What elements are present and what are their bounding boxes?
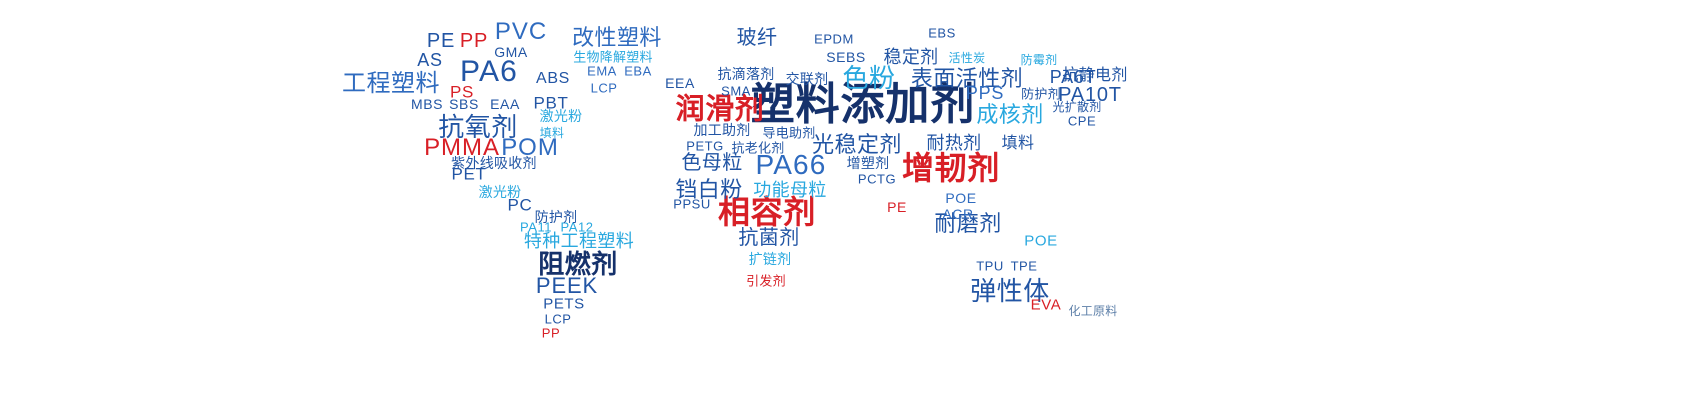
word-e7a8b3e5ae9ae58982[interactable]: 稳定剂: [883, 48, 938, 66]
word-e6bf80e58589e7b289[interactable]: 激光粉: [479, 185, 522, 199]
word-petg[interactable]: PETG: [686, 140, 723, 153]
word-eba[interactable]: EBA: [624, 65, 652, 78]
word-acr[interactable]: ACR: [942, 207, 973, 221]
word-eva[interactable]: EVA: [1031, 298, 1062, 313]
word-pe[interactable]: PE: [887, 200, 907, 214]
word-e5b7a5e7a88be5a191e69699[interactable]: 工程塑料: [342, 72, 440, 96]
word-e6b4bbe680a7e782ad[interactable]: 活性炭: [949, 52, 986, 64]
word-e789b9e7a78de5b7a5e7a88be5a191e69699[interactable]: 特种工程塑料: [524, 232, 634, 250]
word-e5a1abe69699[interactable]: 填料: [540, 127, 564, 139]
word-pets[interactable]: PETS: [543, 297, 585, 312]
word-tpu[interactable]: TPU: [976, 260, 1004, 273]
word-pps[interactable]: PPS: [966, 84, 1004, 102]
word-e58a9fe883bde6af8de7b292[interactable]: 功能母粒: [753, 181, 826, 199]
word-e998b2e68aa4e58982[interactable]: 防护剂: [1021, 88, 1061, 101]
word-e58aa0e5b7a5e58aa9e58982[interactable]: 加工助剂: [693, 123, 750, 137]
word-e7949fe789a9e9998de8a7a3e5a191e69699[interactable]: 生物降解塑料: [573, 51, 653, 64]
word-e68a97e88f8ce58982[interactable]: 抗菌剂: [738, 228, 799, 248]
word-pvc[interactable]: PVC: [495, 20, 547, 44]
word-e5a29ee5a191e58982[interactable]: 增塑剂: [847, 156, 890, 170]
word-eea[interactable]: EEA: [665, 76, 695, 90]
word-e78ebbe7baa4[interactable]: 玻纤: [737, 28, 778, 48]
word-pp[interactable]: PP: [542, 327, 560, 340]
word-tpe[interactable]: TPE: [1011, 260, 1038, 273]
word-e998b2e68aa4e58982[interactable]: 防护剂: [535, 210, 578, 224]
word-e889b2e6af8de7b292[interactable]: 色母粒: [681, 153, 742, 173]
word-e68890e6a0b8e58982[interactable]: 成核剂: [976, 104, 1043, 126]
word-pp[interactable]: PP: [460, 31, 488, 51]
word-e5a1abe69699[interactable]: 填料: [1002, 136, 1035, 152]
word-e58c96e5b7a5e58e9fe69699[interactable]: 化工原料: [1069, 305, 1118, 317]
word-as[interactable]: AS: [417, 51, 442, 69]
word-ema[interactable]: EMA: [587, 65, 617, 78]
word-e58589e689a9e695a3e58982[interactable]: 光扩散剂: [1053, 101, 1102, 113]
word-e6bf80e58589e7b289[interactable]: 激光粉: [540, 109, 583, 123]
word-lcp[interactable]: LCP: [545, 313, 572, 326]
word-e88090e783ade58982[interactable]: 耐热剂: [926, 134, 981, 152]
word-sbs[interactable]: SBS: [449, 97, 479, 111]
word-e4baa4e88194e58982[interactable]: 交联剂: [786, 72, 829, 86]
word-e689a9e993bee58982[interactable]: 扩链剂: [749, 252, 792, 266]
word-cpe[interactable]: CPE: [1068, 115, 1096, 128]
word-e68a97e6bbb4e890bde58982[interactable]: 抗滴落剂: [717, 67, 774, 81]
word-epdm[interactable]: EPDM: [814, 33, 854, 46]
word-sma[interactable]: SMA: [721, 85, 751, 98]
word-pa6t[interactable]: PA6T: [1050, 68, 1097, 86]
word-e7b4abe5a496e7babfe590b8e694b6e58982[interactable]: 紫外线吸收剂: [451, 156, 537, 170]
word-cloud: 塑料添加剂润滑剂相容剂增韧剂阻燃剂工程塑料抗氧剂弹性体表面活性剂光稳定剂色粉特种…: [0, 0, 1707, 400]
word-mbs[interactable]: MBS: [411, 97, 443, 111]
word-peek[interactable]: PEEK: [536, 275, 598, 297]
word-e998b2e99c89e58982[interactable]: 防霉剂: [1021, 54, 1058, 66]
word-ebs[interactable]: EBS: [928, 27, 956, 40]
word-eaa[interactable]: EAA: [490, 97, 520, 111]
word-e68a97e88081e58c96e58982[interactable]: 抗老化剂: [731, 142, 784, 155]
word-abs[interactable]: ABS: [536, 71, 570, 87]
word-e5a29ee99fa7e58982[interactable]: 增韧剂: [902, 152, 1000, 184]
word-e889b2e7b289[interactable]: 色粉: [842, 65, 895, 91]
word-pctg[interactable]: PCTG: [858, 173, 896, 186]
word-gma[interactable]: GMA: [494, 45, 528, 59]
word-poe[interactable]: POE: [945, 191, 976, 205]
word-sebs[interactable]: SEBS: [826, 50, 866, 64]
word-e5afbce794b5e58aa9e58982[interactable]: 导电助剂: [762, 127, 815, 140]
word-ppsu[interactable]: PPSU: [673, 198, 710, 211]
word-pe[interactable]: PE: [427, 31, 455, 51]
word-poe[interactable]: POE: [1024, 234, 1057, 249]
word-e6b6a6e6bb91e58982[interactable]: 润滑剂: [676, 96, 765, 125]
word-lcp[interactable]: LCP: [591, 82, 618, 95]
word-e5bc95e58f91e58982[interactable]: 引发剂: [746, 275, 786, 288]
word-e694b9e680a7e5a191e69699[interactable]: 改性塑料: [572, 27, 662, 49]
